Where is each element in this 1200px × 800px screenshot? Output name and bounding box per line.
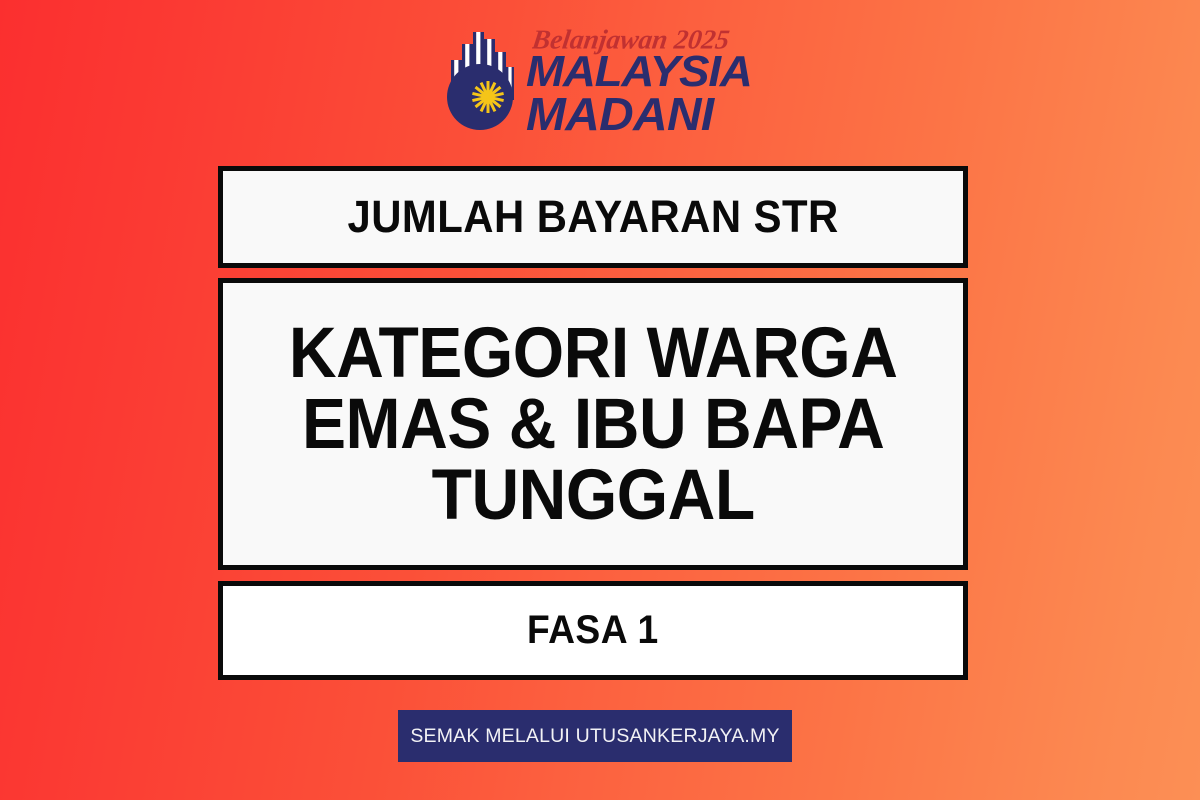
malaysia-madani-logo: Belanjawan 2025 MALAYSIA MADANI <box>0 16 1200 138</box>
subject-title: JUMLAH BAYARAN STR <box>347 191 838 243</box>
headline-title: KATEGORI WARGA EMAS & IBU BAPA TUNGGAL <box>276 318 911 531</box>
headline-line-1: KATEGORI WARGA <box>289 318 898 389</box>
check-via-website-button[interactable]: SEMAK MELALUI UTUSANKERJAYA.MY <box>398 710 792 762</box>
logo-wordmark-madani: MADANI <box>526 93 769 136</box>
headline-line-3: TUNGGAL <box>289 460 898 531</box>
malaysia-madani-crescent-star-skyline-icon <box>441 22 519 132</box>
headline-panel: KATEGORI WARGA EMAS & IBU BAPA TUNGGAL <box>218 278 968 570</box>
phase-label: FASA 1 <box>527 608 659 653</box>
headline-line-2: EMAS & IBU BAPA <box>289 389 898 460</box>
cta-button-label: SEMAK MELALUI UTUSANKERJAYA.MY <box>410 725 779 748</box>
phase-panel: FASA 1 <box>218 581 968 680</box>
subject-panel: JUMLAH BAYARAN STR <box>218 166 968 268</box>
logo-wordmark-group: Belanjawan 2025 MALAYSIA MADANI <box>526 20 760 138</box>
logo-inner: Belanjawan 2025 MALAYSIA MADANI <box>441 16 760 138</box>
logo-wordmark-malaysia: MALAYSIA <box>526 52 769 93</box>
poster-canvas: Belanjawan 2025 MALAYSIA MADANI JUMLAH B… <box>0 0 1200 800</box>
